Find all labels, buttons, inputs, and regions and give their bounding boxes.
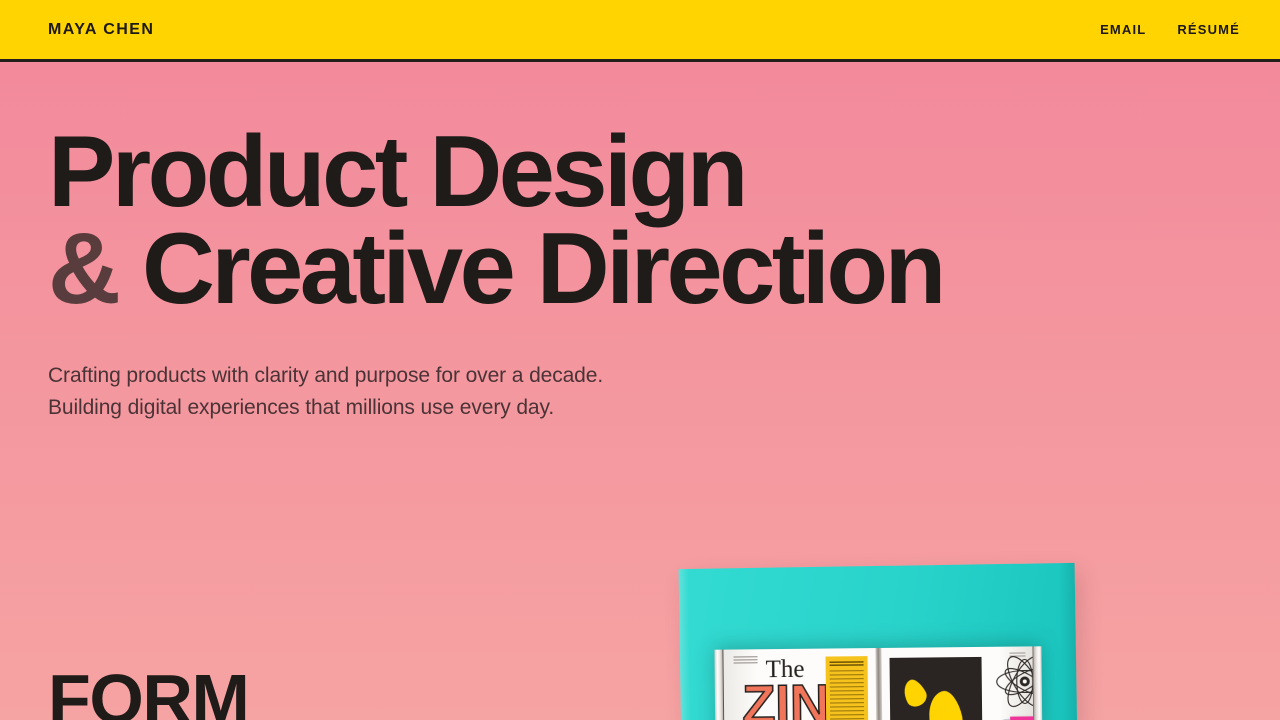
yellow-sidebar-column xyxy=(825,656,868,720)
magazine-title-display: ZIN xyxy=(742,677,830,720)
section-heading-form: FORM xyxy=(48,664,248,720)
pear-shape-large-icon xyxy=(923,688,965,720)
sticky-note xyxy=(1010,716,1034,720)
open-magazine: The ZIN xyxy=(714,646,1042,720)
site-header: MAYA CHEN EMAIL RÉSUMÉ xyxy=(0,0,1280,62)
brand-wordmark[interactable]: MAYA CHEN xyxy=(48,21,154,39)
pear-shape-small-icon xyxy=(898,676,929,710)
headline-ampersand: & xyxy=(48,213,117,325)
magazine-left-page: The ZIN xyxy=(723,648,876,720)
sidebar-body-lines xyxy=(829,670,864,720)
headline-line-2: & Creative Direction xyxy=(48,221,1280,318)
hero-subtitle: Crafting products with clarity and purpo… xyxy=(48,360,1280,425)
nav-link-resume[interactable]: RÉSUMÉ xyxy=(1177,22,1240,37)
magazine-photo: The ZIN xyxy=(660,548,1120,720)
page-title: Product Design & Creative Direction xyxy=(48,124,1280,318)
subtitle-line-2: Building digital experiences that millio… xyxy=(48,392,1280,425)
sidebar-headline-lines xyxy=(829,661,863,667)
nav-link-email[interactable]: EMAIL xyxy=(1100,22,1146,37)
kicker-text-block xyxy=(733,656,757,663)
portfolio-landing-page: MAYA CHEN EMAIL RÉSUMÉ Product Design & … xyxy=(0,0,1280,720)
dark-art-panel xyxy=(889,657,982,720)
atom-diagram-icon xyxy=(993,654,1034,709)
headline-line-2-text: Creative Direction xyxy=(142,213,943,325)
headline-line-1: Product Design xyxy=(48,124,1280,221)
magazine-right-page xyxy=(881,646,1034,720)
hero-section: Product Design & Creative Direction Craf… xyxy=(0,62,1280,425)
primary-nav: EMAIL RÉSUMÉ xyxy=(1100,22,1240,37)
subtitle-line-1: Crafting products with clarity and purpo… xyxy=(48,360,1280,393)
